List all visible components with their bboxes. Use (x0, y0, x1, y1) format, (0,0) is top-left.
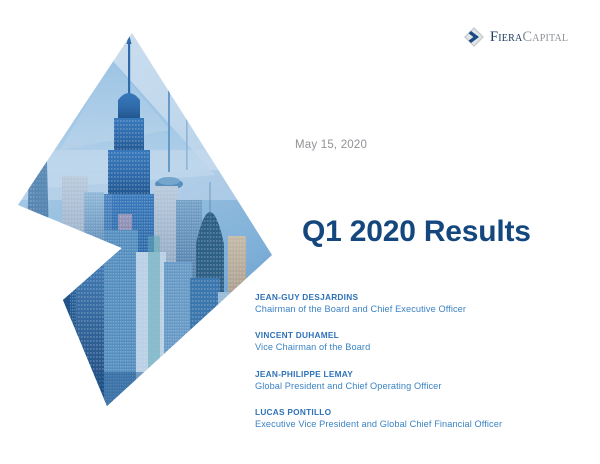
slide-title: Q1 2020 Results (302, 215, 531, 249)
presenter-role: Chairman of the Board and Chief Executiv… (255, 303, 585, 316)
presentation-slide: FieraCapital May 15, 2020 Q1 2020 Result… (0, 0, 600, 464)
logo-wordmark: FieraCapital (490, 30, 568, 45)
presenter-role: Vice Chairman of the Board (255, 341, 585, 354)
presenter-item: JEAN-GUY DESJARDINS Chairman of the Boar… (255, 291, 585, 316)
presenter-name: LUCAS PONTILLO (255, 406, 585, 418)
presenter-name: JEAN-PHILIPPE LEMAY (255, 368, 585, 380)
logo-word-fiera: Fiera (490, 29, 522, 45)
presenter-item: JEAN-PHILIPPE LEMAY Global President and… (255, 368, 585, 393)
presenter-role: Executive Vice President and Global Chie… (255, 418, 585, 431)
presenter-name: VINCENT DUHAMEL (255, 329, 585, 341)
presenter-name: JEAN-GUY DESJARDINS (255, 291, 585, 303)
slide-date: May 15, 2020 (295, 139, 367, 151)
presenter-item: VINCENT DUHAMEL Vice Chairman of the Boa… (255, 329, 585, 354)
logo-word-capital: Capital (522, 29, 568, 45)
presenter-item: LUCAS PONTILLO Executive Vice President … (255, 406, 585, 431)
presenter-role: Global President and Chief Operating Off… (255, 380, 585, 393)
fiera-diamond-chevron-icon (463, 26, 485, 48)
presenter-list: JEAN-GUY DESJARDINS Chairman of the Boar… (255, 291, 585, 431)
fiera-capital-logo: FieraCapital (463, 26, 568, 48)
